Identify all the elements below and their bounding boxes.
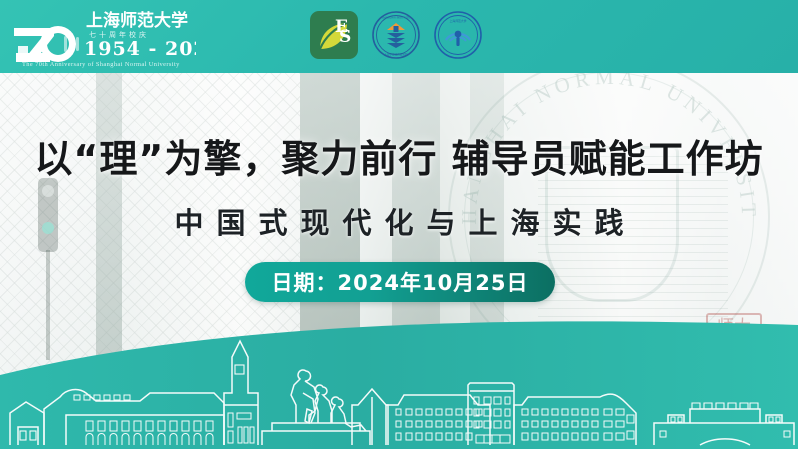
svg-text:上海学校德育研究院: 上海学校德育研究院 [384,53,408,57]
poster-header-bar: 上海师范大学 七十周年校庆 1954 - 2024 The 70th Anniv… [0,0,798,73]
poster-date-badge[interactable]: 日期：2024年10月25日 [245,262,555,302]
university-seal-blue-logo[interactable]: 上海师范大学 [433,10,483,60]
footer-skyline-band [0,309,798,449]
svg-text:S: S [339,27,351,47]
partner-logos: E S SHANGHAI INSTITUTE 上海学校德育研究院 [309,10,483,60]
poster-subtitle: 中国式现代化与上海实践 [0,200,798,242]
university-seal-orange-logo[interactable]: SHANGHAI INSTITUTE 上海学校德育研究院 [371,10,421,60]
es-leaf-logo[interactable]: E S [309,10,359,60]
anniversary-logo: 上海师范大学 七十周年校庆 1954 - 2024 The 70th Anniv… [10,6,196,68]
svg-text:上海师范大学: 上海师范大学 [450,19,467,23]
anniversary-years: 1954 - 2024 [84,38,196,60]
campus-skyline-illustration [0,309,798,449]
anniversary-english-line: The 70th Anniversary of Shanghai Normal … [22,61,180,68]
anniversary-university-name: 上海师范大学 [86,10,188,31]
poster-main-title: 以“理”为擎，聚力前行 辅导员赋能工作坊 [0,128,798,183]
traffic-light-top-lamp [42,185,54,197]
poster-canvas: SHANGHAI NORMAL UNIVERSITY 师大 [0,0,798,449]
svg-text:SHANGHAI INSTITUTE: SHANGHAI INSTITUTE [382,16,410,20]
